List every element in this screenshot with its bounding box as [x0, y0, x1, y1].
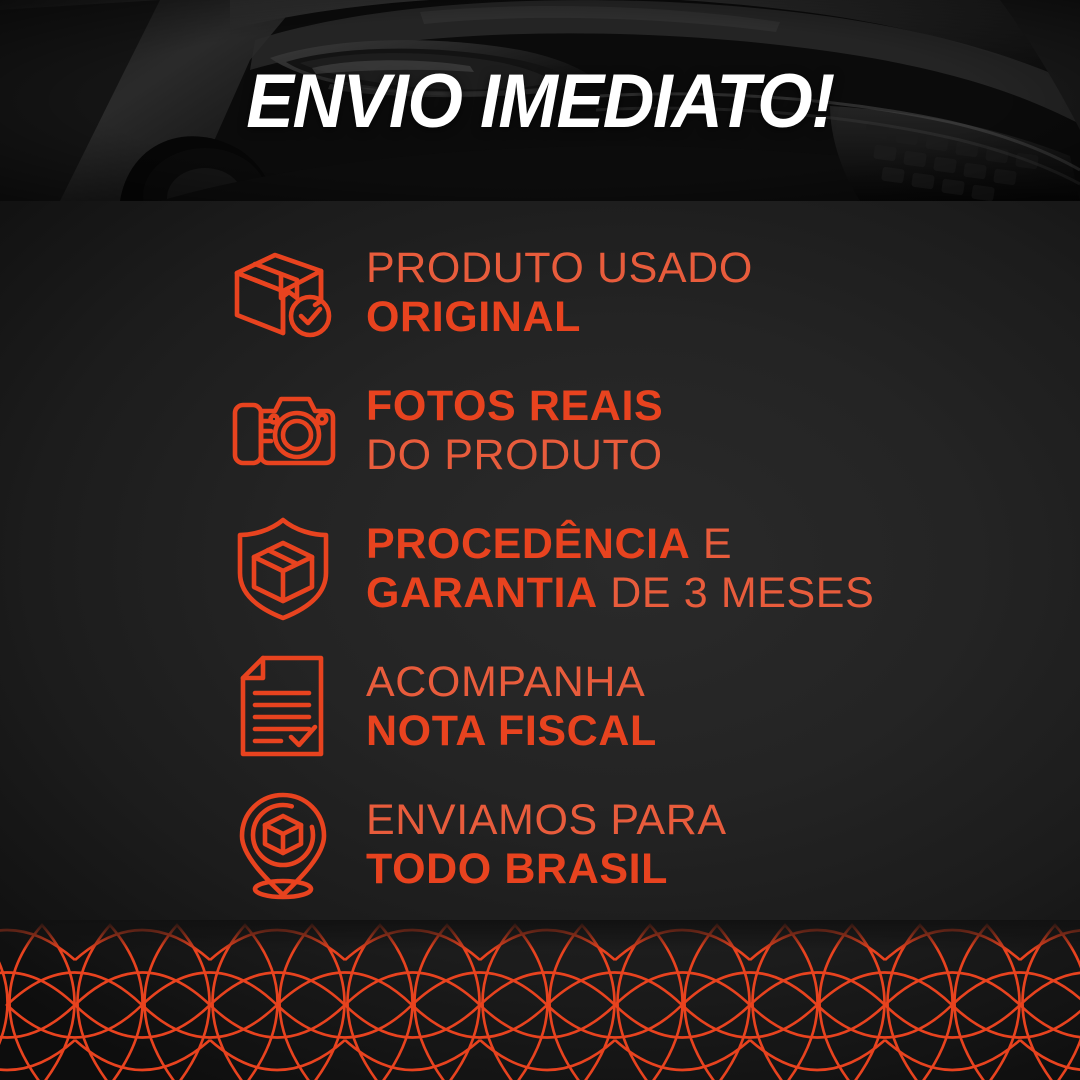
feature-row-nota-fiscal: ACOMPANHA NOTA FISCAL — [222, 638, 1080, 776]
feature-line-1: PRODUTO USADO — [366, 244, 753, 293]
invoice-document-check-icon — [222, 653, 344, 761]
feature-row-produto-usado: PRODUTO USADO ORIGINAL — [222, 224, 1080, 362]
feature-line-1: ENVIAMOS PARA — [366, 796, 727, 845]
feature-row-fotos-reais: FOTOS REAIS DO PRODUTO — [222, 362, 1080, 500]
footer-pattern — [0, 920, 1080, 1080]
feature-line-2: ORIGINAL — [366, 293, 753, 342]
feature-text-produto-usado: PRODUTO USADO ORIGINAL — [344, 244, 753, 342]
feature-line-2: NOTA FISCAL — [366, 707, 657, 756]
feature-line-2-bold: GARANTIA — [366, 569, 598, 617]
feature-text-nota-fiscal: ACOMPANHA NOTA FISCAL — [344, 658, 657, 756]
feature-line-2: GARANTIA DE 3 MESES — [366, 569, 874, 618]
feature-line-1-thin: E — [690, 520, 732, 568]
feature-line-1: FOTOS REAIS — [366, 382, 663, 431]
shield-box-icon — [222, 515, 344, 623]
feature-line-1-bold: PROCEDÊNCIA — [366, 520, 690, 568]
feature-text-fotos-reais: FOTOS REAIS DO PRODUTO — [344, 382, 663, 480]
feature-text-procedencia-garantia: PROCEDÊNCIA E GARANTIA DE 3 MESES — [344, 520, 874, 618]
feature-line-2-thin: DE 3 MESES — [598, 569, 875, 617]
header-banner: ENVIO IMEDIATO! — [0, 0, 1080, 201]
feature-row-procedencia-garantia: PROCEDÊNCIA E GARANTIA DE 3 MESES — [222, 500, 1080, 638]
promo-banner: ENVIO IMEDIATO! PRODUTO USADO ORIGIN — [0, 0, 1080, 1080]
feature-line-2: DO PRODUTO — [366, 431, 663, 480]
camera-icon — [222, 385, 344, 477]
feature-line-1: PROCEDÊNCIA E — [366, 520, 874, 569]
feature-text-todo-brasil: ENVIAMOS PARA TODO BRASIL — [344, 796, 727, 894]
feature-line-2: TODO BRASIL — [366, 845, 727, 894]
feature-row-todo-brasil: ENVIAMOS PARA TODO BRASIL — [222, 776, 1080, 914]
feature-line-1: ACOMPANHA — [366, 658, 657, 707]
feature-list: PRODUTO USADO ORIGINAL FOTOS REAIS — [0, 201, 1080, 936]
header-title: ENVIO IMEDIATO! — [32, 64, 1047, 140]
location-pin-box-icon — [222, 789, 344, 901]
package-box-check-icon — [222, 243, 344, 343]
